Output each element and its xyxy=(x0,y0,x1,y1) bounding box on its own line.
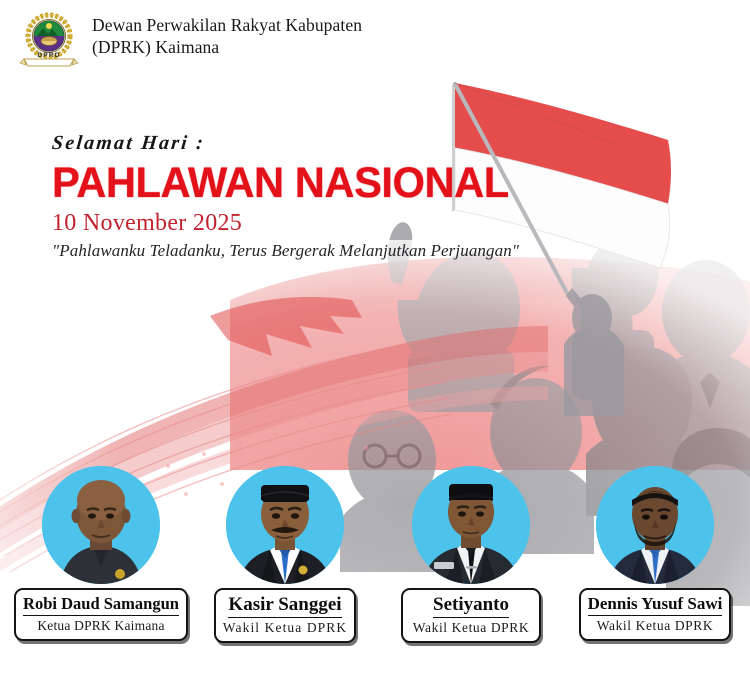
poster-canvas: DPRD Dewan Perwakilan Rakyat Kabupaten (… xyxy=(0,0,750,675)
avatar xyxy=(596,466,714,584)
official-role: Ketua DPRK Kaimana xyxy=(23,618,179,634)
name-plate: Setiyanto Wakil Ketua DPRK xyxy=(401,588,541,643)
official-role: Wakil Ketua DPRK xyxy=(588,618,723,634)
official-card: Dennis Yusuf Sawi Wakil Ketua DPRK xyxy=(562,466,748,641)
name-plate: Kasir Sanggei Wakil Ketua DPRK xyxy=(214,588,357,643)
official-role: Wakil Ketua DPRK xyxy=(223,620,348,636)
name-plate: Dennis Yusuf Sawi Wakil Ketua DPRK xyxy=(579,588,732,641)
event-date: 10 November 2025 xyxy=(52,210,523,237)
official-name: Robi Daud Samangun xyxy=(23,594,179,616)
org-name-line-1: Dewan Perwakilan Rakyat Kabupaten xyxy=(92,15,362,35)
title-block: Selamat Hari : PAHLAWAN NASIONAL 10 Nove… xyxy=(52,132,523,261)
poster-header: DPRD Dewan Perwakilan Rakyat Kabupaten (… xyxy=(18,10,362,68)
organization-name: Dewan Perwakilan Rakyat Kabupaten (DPRK)… xyxy=(92,10,362,59)
portrait-setiyanto-icon xyxy=(412,466,530,584)
greeting-text: Selamat Hari : xyxy=(51,132,524,155)
avatar xyxy=(412,466,530,584)
portrait-dennis-yusuf-sawi-icon xyxy=(596,466,714,584)
page-title: PAHLAWAN NASIONAL xyxy=(52,161,509,206)
portrait-kasir-sanggei-icon xyxy=(226,466,344,584)
org-name-line-2: (DPRK) Kaimana xyxy=(92,37,362,59)
official-name: Dennis Yusuf Sawi xyxy=(588,594,723,616)
officials-row: Robi Daud Samangun Ketua DPRK Kaimana xyxy=(0,466,750,646)
name-plate: Robi Daud Samangun Ketua DPRK Kaimana xyxy=(14,588,188,641)
dprk-kaimana-emblem-icon: DPRD xyxy=(18,10,80,68)
official-name: Kasir Sanggei xyxy=(228,594,341,618)
svg-text:DPRD: DPRD xyxy=(37,52,60,59)
avatar xyxy=(226,466,344,584)
tagline-text: "Pahlawanku Teladanku, Terus Bergerak Me… xyxy=(52,241,523,261)
official-card: Robi Daud Samangun Ketua DPRK Kaimana xyxy=(8,466,194,641)
official-role: Wakil Ketua DPRK xyxy=(410,620,532,636)
official-card: Setiyanto Wakil Ketua DPRK xyxy=(378,466,564,643)
official-name: Setiyanto xyxy=(433,594,509,618)
portrait-robi-daud-samangun-icon xyxy=(42,466,160,584)
official-card: Kasir Sanggei Wakil Ketua DPRK xyxy=(192,466,378,643)
avatar xyxy=(42,466,160,584)
